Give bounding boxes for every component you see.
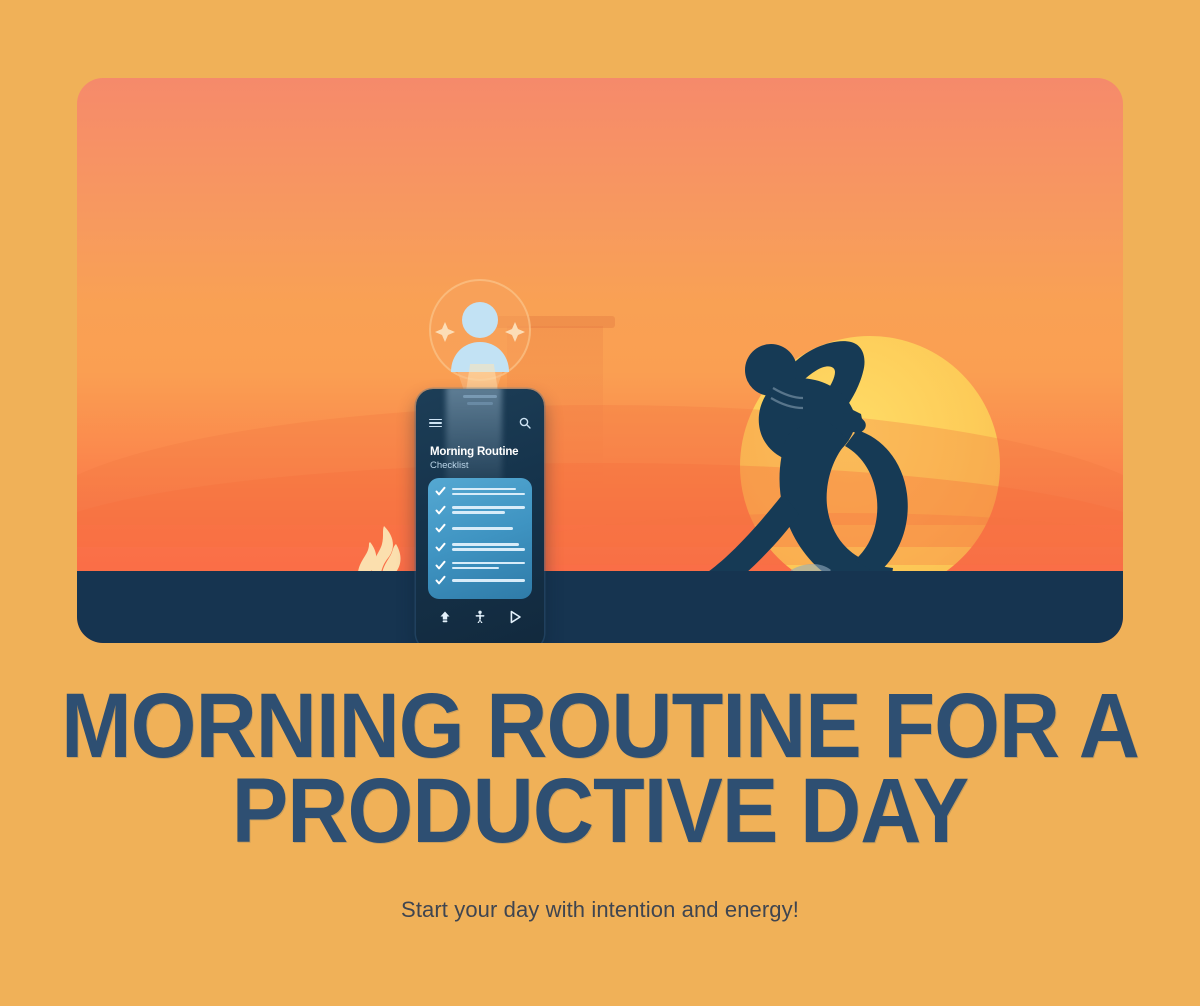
checklist-item-text <box>452 488 525 496</box>
phone-mockup: Morning Routine Checklist <box>416 389 544 643</box>
check-icon <box>435 542 446 553</box>
checklist-item[interactable] <box>435 542 525 553</box>
checklist-item[interactable] <box>435 523 525 534</box>
play-icon[interactable] <box>508 610 522 624</box>
checklist-item-text <box>452 579 525 582</box>
poster-canvas: Morning Routine Checklist <box>0 0 1200 1006</box>
check-icon <box>435 575 446 586</box>
hamburger-menu-icon[interactable] <box>429 419 442 428</box>
checklist-item-text <box>452 527 525 530</box>
phone-speaker-secondary <box>467 402 493 405</box>
search-icon[interactable] <box>519 417 531 429</box>
checklist-item-text <box>452 543 525 551</box>
checklist-item-text <box>452 562 525 570</box>
app-title: Morning Routine <box>430 446 518 458</box>
check-icon <box>435 486 446 497</box>
check-icon <box>435 560 446 571</box>
phone-action-bar <box>428 603 532 631</box>
check-icon <box>435 505 446 516</box>
page-title: MORNING ROUTINE FOR A PRODUCTIVE DAY <box>48 684 1152 853</box>
app-subtitle: Checklist <box>430 460 469 471</box>
ground-plane <box>77 571 1123 643</box>
upload-icon[interactable] <box>438 610 452 624</box>
page-subtitle: Start your day with intention and energy… <box>0 897 1200 923</box>
lightbulb-person-icon <box>421 278 539 400</box>
phone-topbar <box>416 413 544 433</box>
checklist-item[interactable] <box>435 505 525 516</box>
checklist-item[interactable] <box>435 575 525 586</box>
person-stretch-icon[interactable] <box>473 610 487 624</box>
hero-image-card: Morning Routine Checklist <box>77 78 1123 643</box>
checklist-card <box>428 478 532 599</box>
check-icon <box>435 523 446 534</box>
phone-speaker <box>463 395 497 398</box>
checklist-item[interactable] <box>435 486 525 497</box>
checklist-item-text <box>452 506 525 514</box>
checklist-item[interactable] <box>435 560 525 571</box>
